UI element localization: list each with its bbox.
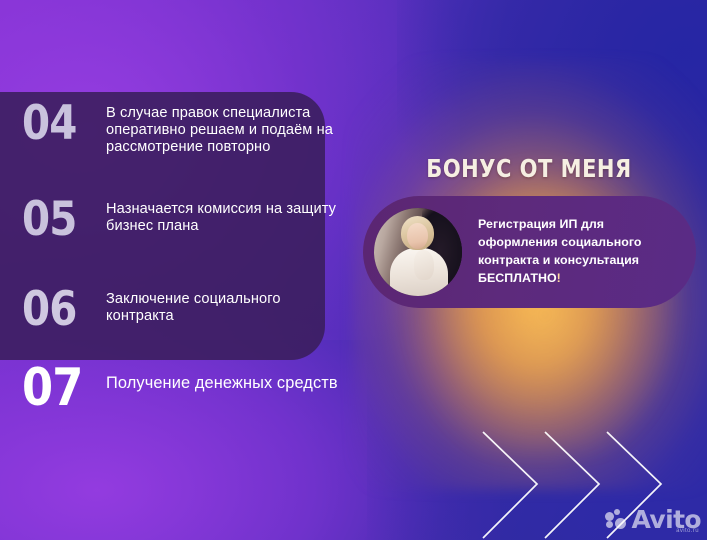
avito-domain-text: avito.ru [676, 528, 699, 534]
step-text-05: Назначается комиссия на защиту бизнес пл… [106, 198, 338, 235]
bonus-title: БОНУС ОТ МЕНЯ [390, 154, 669, 183]
slide-canvas: 04 В случае правок специалиста оперативн… [0, 0, 707, 540]
chevron-icon-1 [483, 432, 537, 538]
step-item-04: 04 В случае правок специалиста оперативн… [22, 102, 338, 156]
step-text-06: Заключение социального контракта [106, 288, 338, 325]
step-item-05: 05 Назначается комиссия на защиту бизнес… [22, 198, 338, 241]
bonus-card-text: Регистрация ИП для оформления социальног… [462, 216, 696, 288]
avatar-photo [374, 208, 462, 296]
step-number-07: 07 [22, 365, 86, 413]
step-number-05: 05 [22, 198, 86, 241]
bonus-card-exclamation: ! [557, 271, 561, 285]
background-glow-blue-bottom-right [367, 270, 707, 540]
avatar-arm [414, 250, 434, 280]
avatar-face [407, 223, 428, 249]
bonus-card: Регистрация ИП для оформления социальног… [363, 196, 696, 308]
avito-watermark: Avito avito.ru [605, 507, 701, 532]
step-item-06: 06 Заключение социального контракта [22, 288, 338, 331]
step-text-07: Получение денежных средств [106, 365, 338, 393]
step-number-04: 04 [22, 102, 86, 145]
step-number-06: 06 [22, 288, 86, 331]
avatar [374, 208, 462, 296]
chevron-icon-2 [545, 432, 599, 538]
step-item-07: 07 Получение денежных средств [22, 365, 338, 413]
steps-list: 04 В случае правок специалиста оперативн… [0, 0, 360, 540]
step-text-04: В случае правок специалиста оперативно р… [106, 102, 338, 156]
avito-logo-icon [605, 509, 627, 531]
